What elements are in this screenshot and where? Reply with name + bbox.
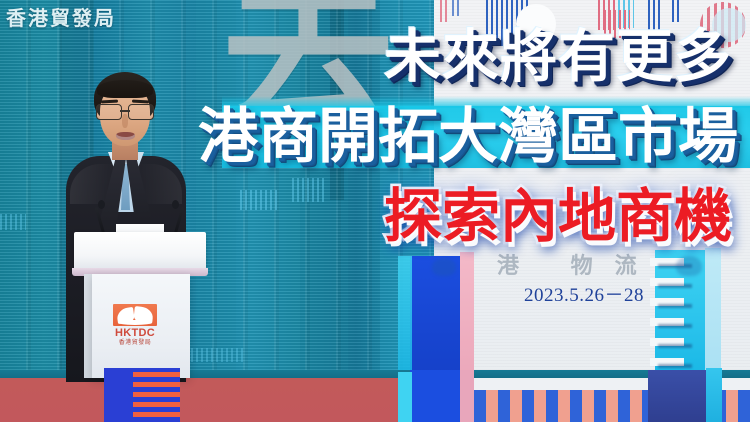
headline-overlay: 未來將有更多 港商開拓大灣區市場 探索內地商機 <box>0 0 750 422</box>
headline-line-3: 探索內地商機 <box>384 184 732 248</box>
headline-line-2: 港商開拓大灣區市場 <box>198 104 738 170</box>
headline-line-1: 未來將有更多 <box>384 26 732 88</box>
news-photo-stage: 香港貿發局 去 港 物流 2023.5.26－28 <box>0 0 750 422</box>
